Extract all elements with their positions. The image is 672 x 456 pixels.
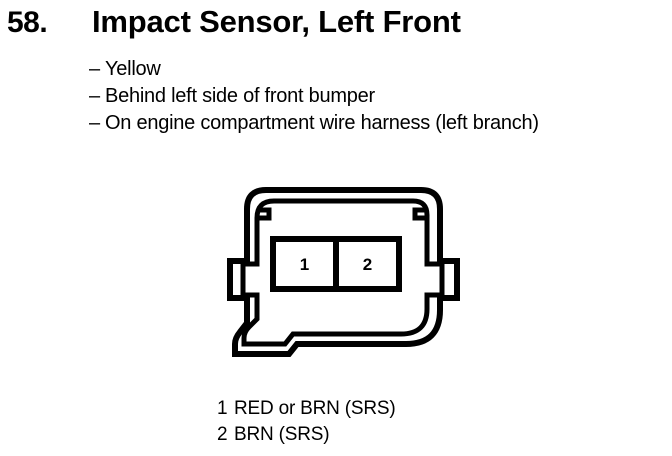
description-text: Behind left side of front bumper xyxy=(105,83,375,110)
dash-bullet-icon: – xyxy=(89,110,105,137)
connector-diagram: 1 2 xyxy=(205,178,470,368)
legend-pin-description: RED or BRN (SRS) xyxy=(234,396,395,422)
list-item: – Yellow xyxy=(89,56,669,83)
item-number: 58. xyxy=(7,5,47,41)
legend-row: 1 RED or BRN (SRS) xyxy=(217,396,617,422)
legend-row: 2 BRN (SRS) xyxy=(217,422,617,448)
page-title: Impact Sensor, Left Front xyxy=(92,3,461,41)
description-text: On engine compartment wire harness (left… xyxy=(105,110,539,137)
pin-legend: 1 RED or BRN (SRS) 2 BRN (SRS) xyxy=(217,396,617,448)
cavity-number-2: 2 xyxy=(363,255,372,274)
connector-svg: 1 2 xyxy=(205,178,470,368)
list-item: – On engine compartment wire harness (le… xyxy=(89,110,669,137)
cavity-number-1: 1 xyxy=(300,255,309,274)
dash-bullet-icon: – xyxy=(89,83,105,110)
connector-reference-page: { "page": { "background_color": "#ffffff… xyxy=(0,0,672,456)
legend-pin-number: 1 xyxy=(217,396,234,422)
page-header: 58. Impact Sensor, Left Front xyxy=(0,0,672,48)
list-item: – Behind left side of front bumper xyxy=(89,83,669,110)
legend-pin-number: 2 xyxy=(217,422,234,448)
legend-pin-description: BRN (SRS) xyxy=(234,422,329,448)
description-list: – Yellow – Behind left side of front bum… xyxy=(89,56,669,137)
dash-bullet-icon: – xyxy=(89,56,105,83)
description-text: Yellow xyxy=(105,56,161,83)
